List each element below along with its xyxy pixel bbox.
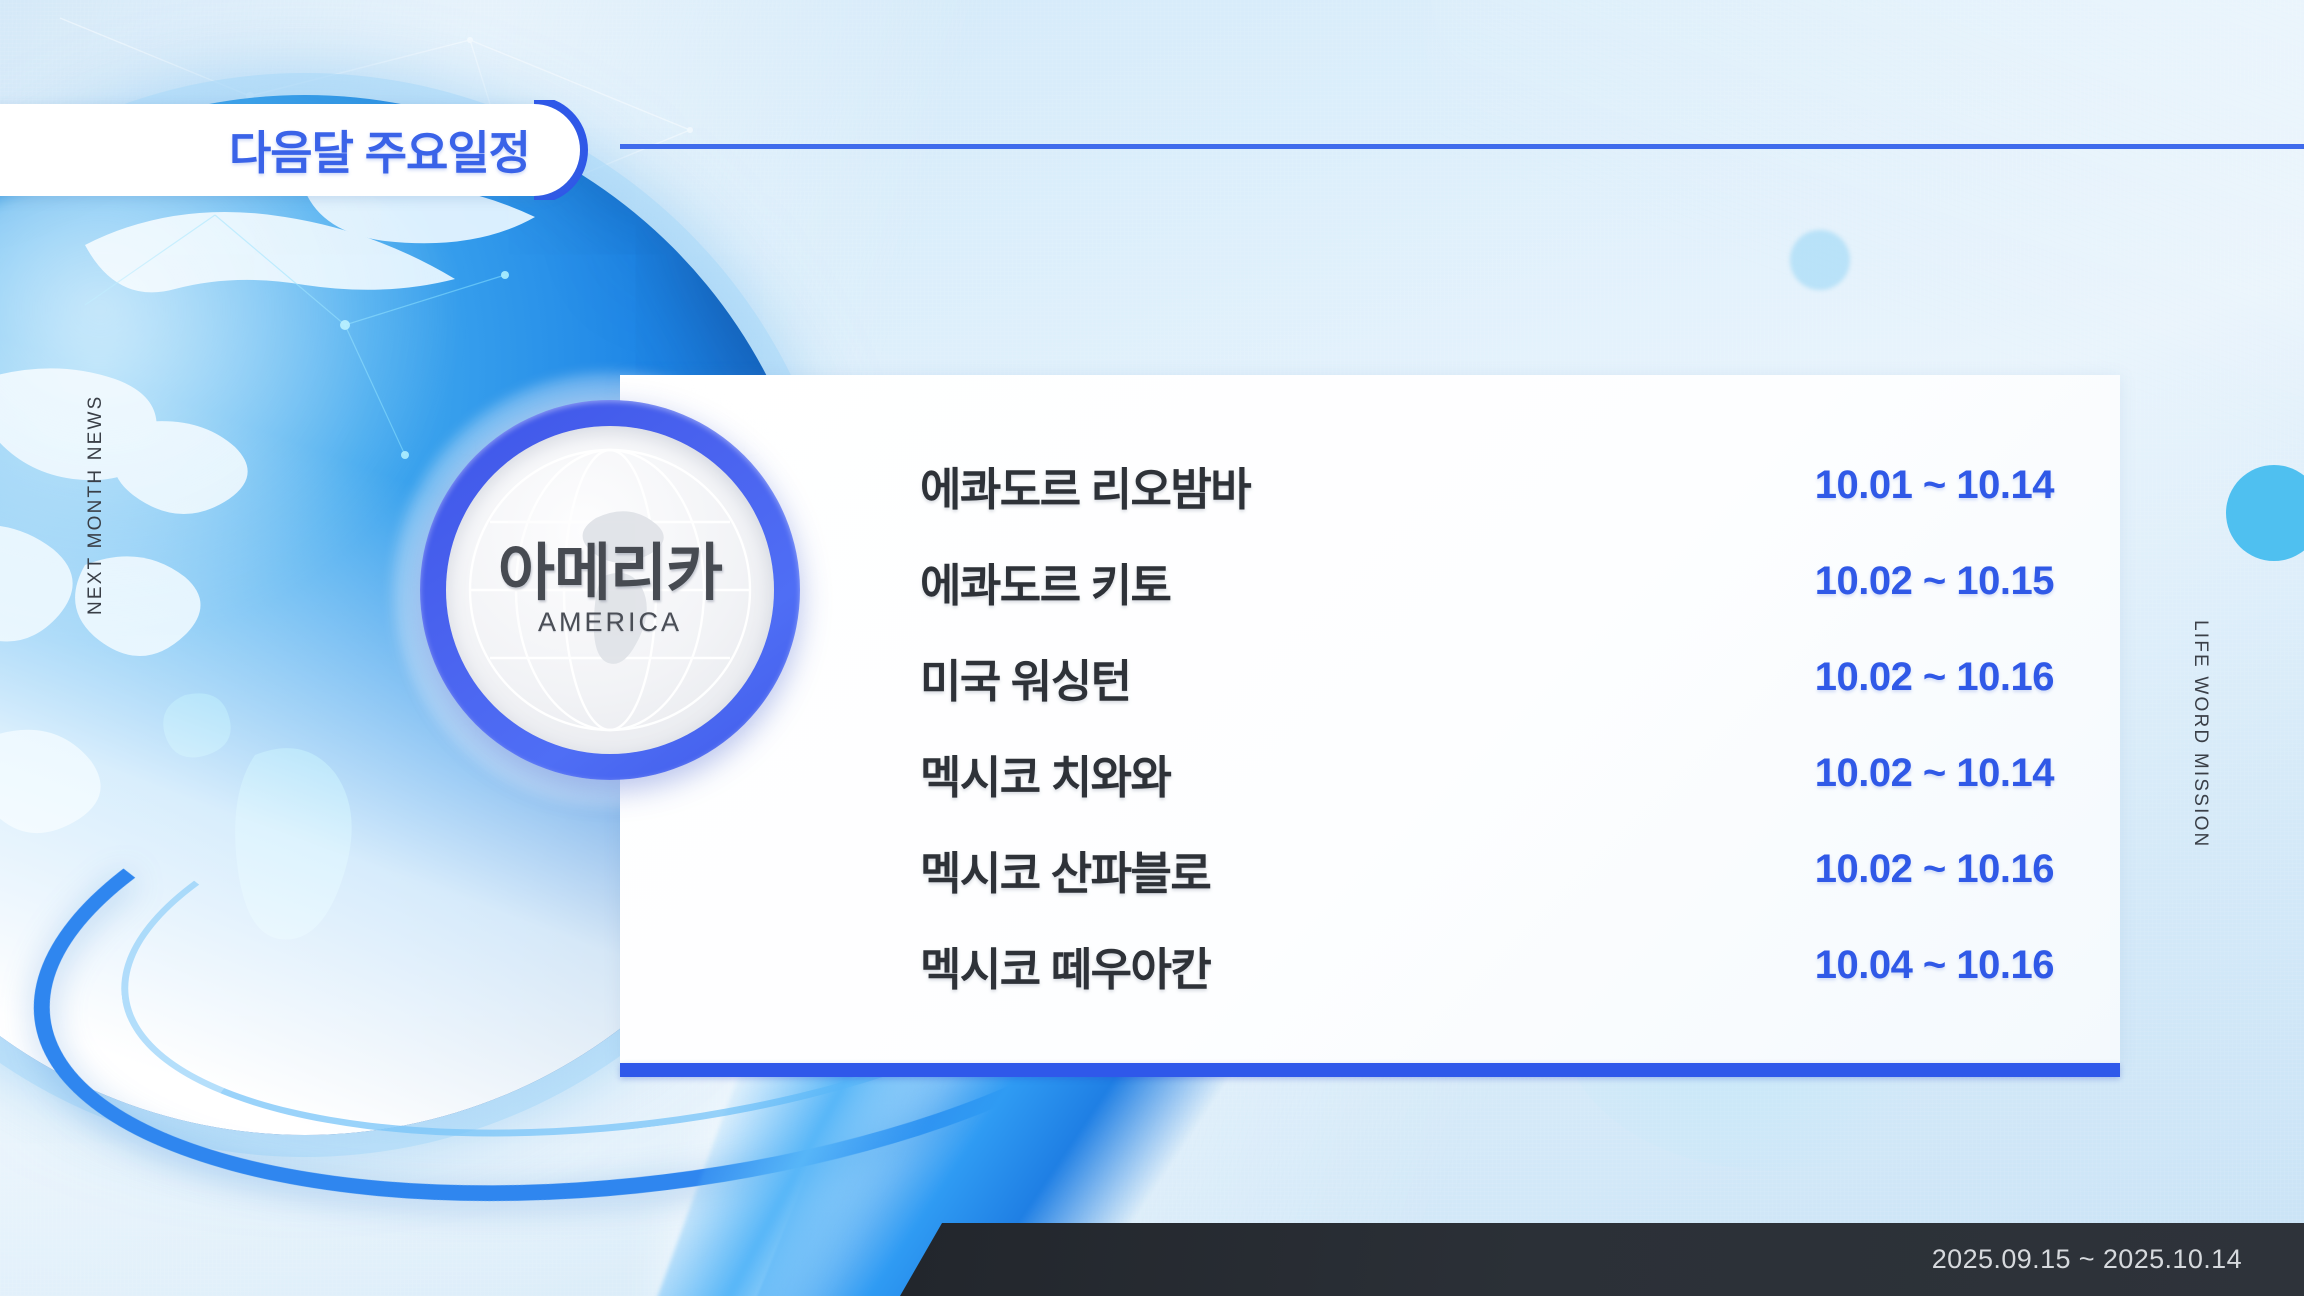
schedule-location: 멕시코 떼우아칸 <box>620 933 1784 998</box>
footer-bar: 2025.09.15 ~ 2025.10.14 <box>900 1223 2304 1296</box>
schedule-row[interactable]: 멕시코 떼우아칸 10.04 ~ 10.16 <box>620 917 2120 1013</box>
small-circle-accent <box>1790 230 1850 290</box>
badge-name-english: AMERICA <box>538 607 682 638</box>
schedule-row[interactable]: 에콰도르 리오밤바 10.01 ~ 10.14 <box>620 437 2120 533</box>
schedule-row[interactable]: 에콰도르 키토 10.02 ~ 10.15 <box>620 533 2120 629</box>
schedule-date-range: 10.02 ~ 10.14 <box>1784 751 2054 796</box>
badge-text-group: 아메리카 AMERICA <box>446 426 774 754</box>
region-badge: 아메리카 AMERICA <box>420 400 800 780</box>
schedule-date-range: 10.02 ~ 10.16 <box>1784 655 2054 700</box>
right-vertical-label: LIFE WORD MISSION <box>2189 620 2211 848</box>
broadcast-slide: 다음달 주요일정 NEXT MONTH NEWS LIFE WORD MISSI… <box>0 0 2304 1296</box>
schedule-date-range: 10.04 ~ 10.16 <box>1784 943 2054 988</box>
badge-name-korean: 아메리카 <box>498 543 722 605</box>
schedule-date-range: 10.02 ~ 10.15 <box>1784 559 2054 604</box>
panel-bottom-accent-bar <box>620 1063 2120 1077</box>
footer-period: 2025.09.15 ~ 2025.10.14 <box>1932 1244 2242 1275</box>
schedule-location: 멕시코 산파블로 <box>620 837 1784 902</box>
header-rule <box>620 144 2304 149</box>
page-title: 다음달 주요일정 <box>229 117 530 183</box>
page-title-bar: 다음달 주요일정 <box>0 104 580 196</box>
schedule-date-range: 10.02 ~ 10.16 <box>1784 847 2054 892</box>
badge-inner-disc: 아메리카 AMERICA <box>446 426 774 754</box>
schedule-row[interactable]: 멕시코 산파블로 10.02 ~ 10.16 <box>620 821 2120 917</box>
schedule-row[interactable]: 멕시코 치와와 10.02 ~ 10.14 <box>620 725 2120 821</box>
schedule-date-range: 10.01 ~ 10.14 <box>1784 463 2054 508</box>
schedule-panel: 에콰도르 리오밤바 10.01 ~ 10.14 에콰도르 키토 10.02 ~ … <box>620 375 2120 1065</box>
left-vertical-label: NEXT MONTH NEWS <box>85 394 107 615</box>
schedule-list: 에콰도르 리오밤바 10.01 ~ 10.14 에콰도르 키토 10.02 ~ … <box>620 375 2120 1065</box>
schedule-row[interactable]: 미국 워싱턴 10.02 ~ 10.16 <box>620 629 2120 725</box>
